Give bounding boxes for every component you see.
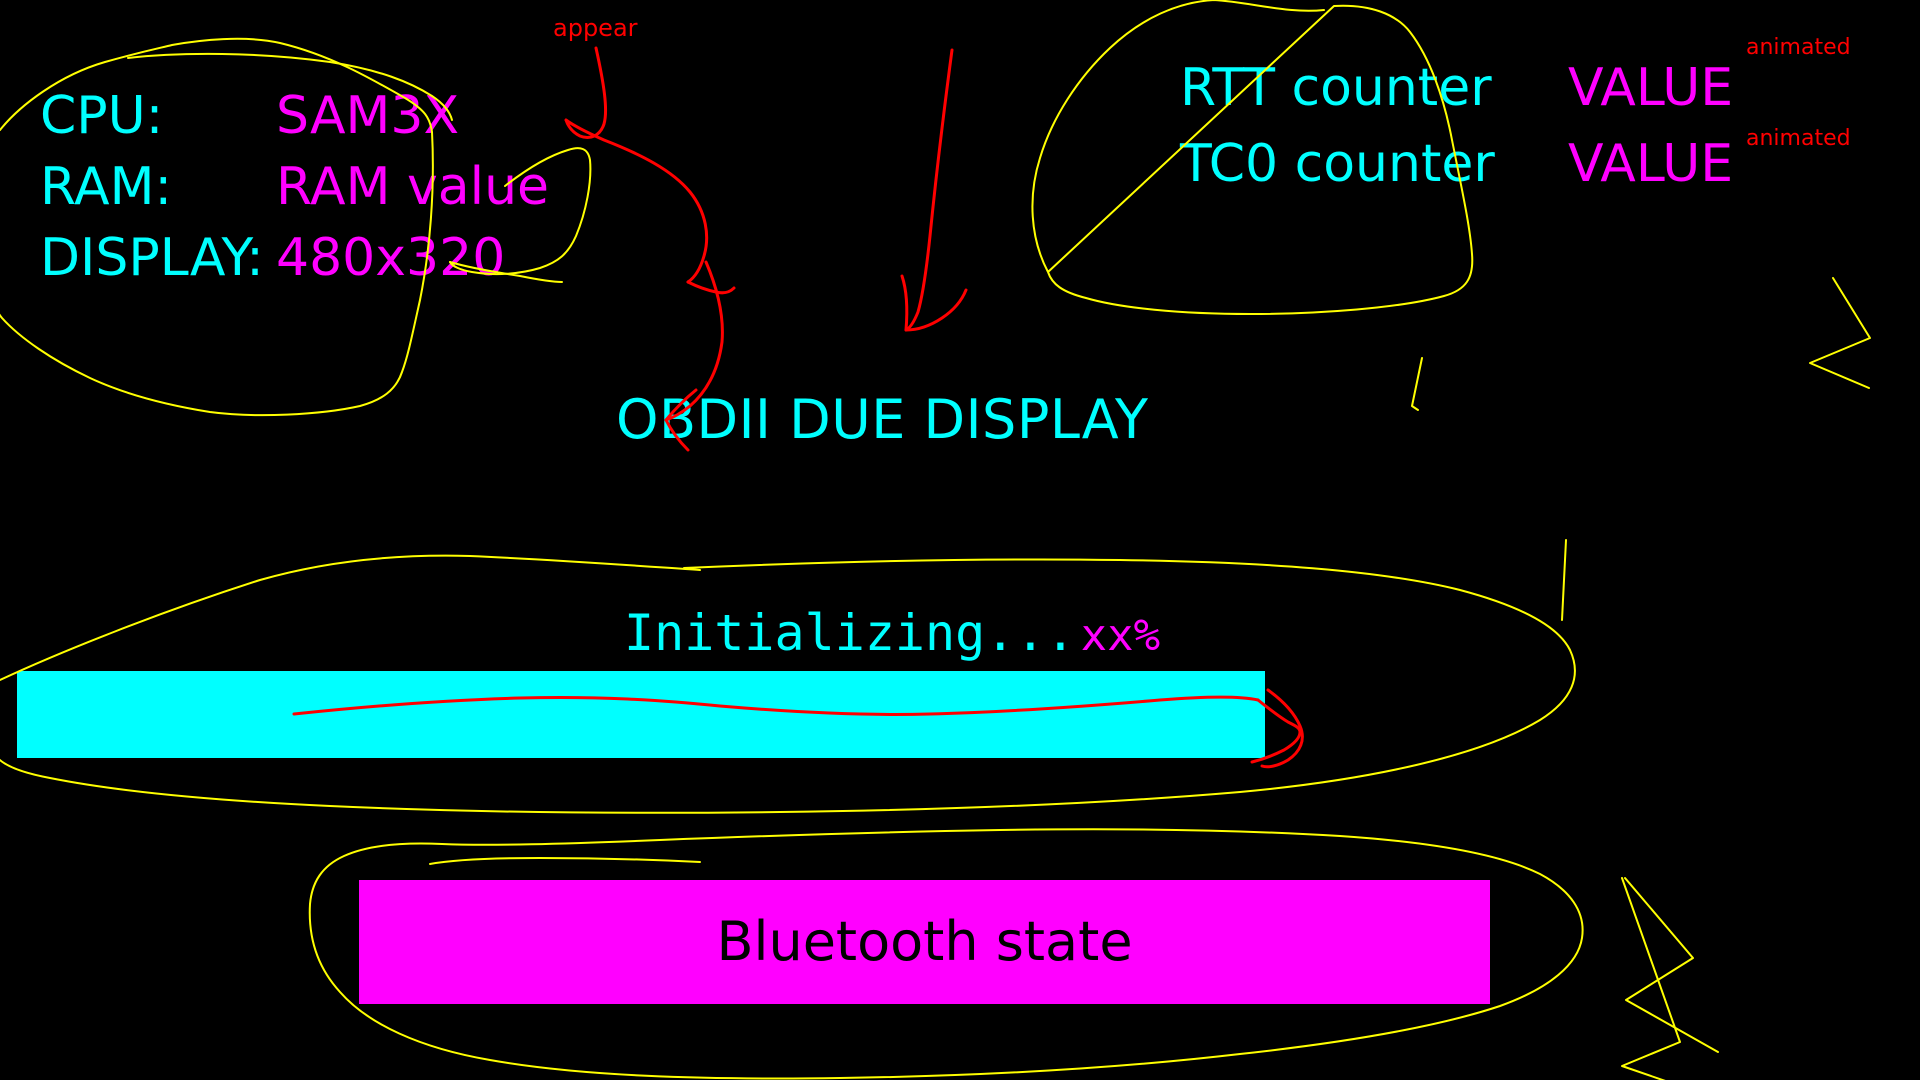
spec-label-cpu: CPU: xyxy=(40,90,276,142)
spec-value-display: 480x320 xyxy=(276,232,505,284)
counter-label-tc0: TC0 counter xyxy=(1180,138,1568,190)
counters-panel: RTT counter VALUE TC0 counter VALUE xyxy=(1180,62,1733,214)
spec-row-cpu: CPU: SAM3X xyxy=(40,90,549,161)
spec-row-ram: RAM: RAM value xyxy=(40,161,549,232)
specs-panel: CPU: SAM3X RAM: RAM value DISPLAY: 480x3… xyxy=(40,90,549,303)
counter-row-tc0: TC0 counter VALUE xyxy=(1180,138,1733,214)
device-title: OBDII DUE DISPLAY xyxy=(616,393,1148,447)
bluetooth-state-box[interactable]: Bluetooth state xyxy=(359,880,1490,1004)
spec-label-display: DISPLAY: xyxy=(40,232,276,284)
obdii-due-display-mockup: CPU: SAM3X RAM: RAM value DISPLAY: 480x3… xyxy=(0,0,1920,1080)
spec-value-ram: RAM value xyxy=(276,161,549,213)
annotation-note-animated-tc0: animated xyxy=(1746,128,1851,150)
spec-label-ram: RAM: xyxy=(40,161,276,213)
annotation-arrow-appear xyxy=(566,48,707,282)
init-percent-text: xx% xyxy=(1081,610,1160,661)
counter-value-tc0: VALUE xyxy=(1568,138,1733,190)
counter-label-rtt: RTT counter xyxy=(1180,62,1568,114)
spec-value-cpu: SAM3X xyxy=(276,90,459,142)
counter-value-rtt: VALUE xyxy=(1568,62,1733,114)
annotation-arrowhead-progress-hook xyxy=(1262,690,1302,767)
annotation-tick-mid-left xyxy=(1412,358,1422,410)
annotation-note-appear: appear xyxy=(553,16,638,40)
bluetooth-state-label: Bluetooth state xyxy=(716,915,1132,969)
annotation-note-animated-rtt: animated xyxy=(1746,37,1851,59)
spec-row-display: DISPLAY: 480x320 xyxy=(40,232,549,303)
annotation-chevron-right-lower-2 xyxy=(1625,878,1718,1052)
progress-bar xyxy=(17,671,1265,758)
annotation-chevron-right-upper xyxy=(1810,278,1870,388)
counter-row-rtt: RTT counter VALUE xyxy=(1180,62,1733,138)
annotation-chevron-right-lower xyxy=(1622,878,1680,1080)
lasso-bluetooth-inner-stroke xyxy=(430,858,700,864)
annotation-arrow-appear-mid xyxy=(688,282,734,293)
annotation-arrowhead-device-title xyxy=(902,276,966,330)
init-status-text: Initializing... xyxy=(624,604,1076,662)
annotation-arrow-to-device-title xyxy=(906,50,952,330)
annotation-tick-mid-right xyxy=(1562,540,1566,620)
init-status-line: Initializing... xx% xyxy=(624,608,1160,658)
